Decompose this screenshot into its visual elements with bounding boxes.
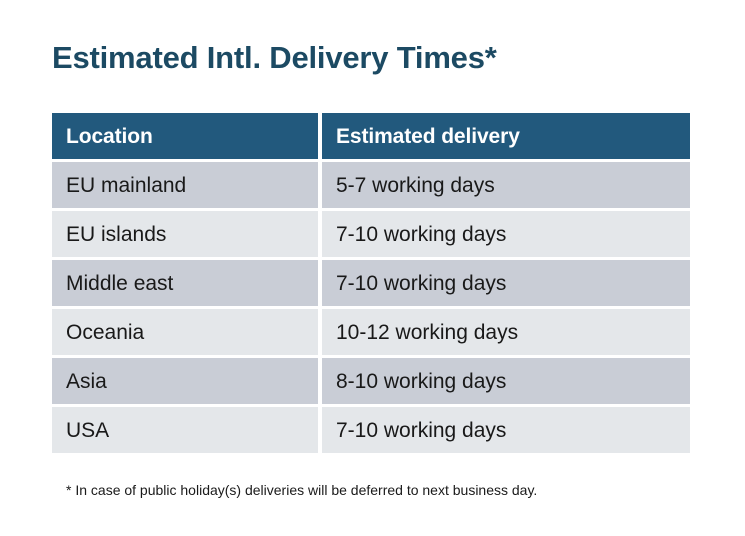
cell-location: EU mainland: [52, 162, 318, 208]
cell-location: Asia: [52, 358, 318, 404]
table-row: Middle east 7-10 working days: [52, 260, 690, 306]
footnote-public-holiday: * In case of public holiday(s) deliverie…: [66, 481, 537, 499]
cell-estimated-delivery: 8-10 working days: [322, 358, 690, 404]
column-header-location: Location: [52, 113, 318, 159]
table-row: EU islands 7-10 working days: [52, 211, 690, 257]
table-row: EU mainland 5-7 working days: [52, 162, 690, 208]
cell-estimated-delivery: 7-10 working days: [322, 407, 690, 453]
table-row: Asia 8-10 working days: [52, 358, 690, 404]
cell-estimated-delivery: 7-10 working days: [322, 260, 690, 306]
cell-location: Oceania: [52, 309, 318, 355]
cell-location: USA: [52, 407, 318, 453]
cell-estimated-delivery: 5-7 working days: [322, 162, 690, 208]
table-header-row: Location Estimated delivery: [52, 113, 690, 159]
cell-estimated-delivery: 10-12 working days: [322, 309, 690, 355]
cell-location: Middle east: [52, 260, 318, 306]
cell-location: EU islands: [52, 211, 318, 257]
delivery-times-table: Location Estimated delivery EU mainland …: [52, 113, 690, 453]
table-row: USA 7-10 working days: [52, 407, 690, 453]
delivery-times-card: Estimated Intl. Delivery Times* Location…: [0, 0, 745, 536]
table-row: Oceania 10-12 working days: [52, 309, 690, 355]
page-title: Estimated Intl. Delivery Times*: [52, 37, 497, 79]
cell-estimated-delivery: 7-10 working days: [322, 211, 690, 257]
column-header-estimated-delivery: Estimated delivery: [322, 113, 690, 159]
